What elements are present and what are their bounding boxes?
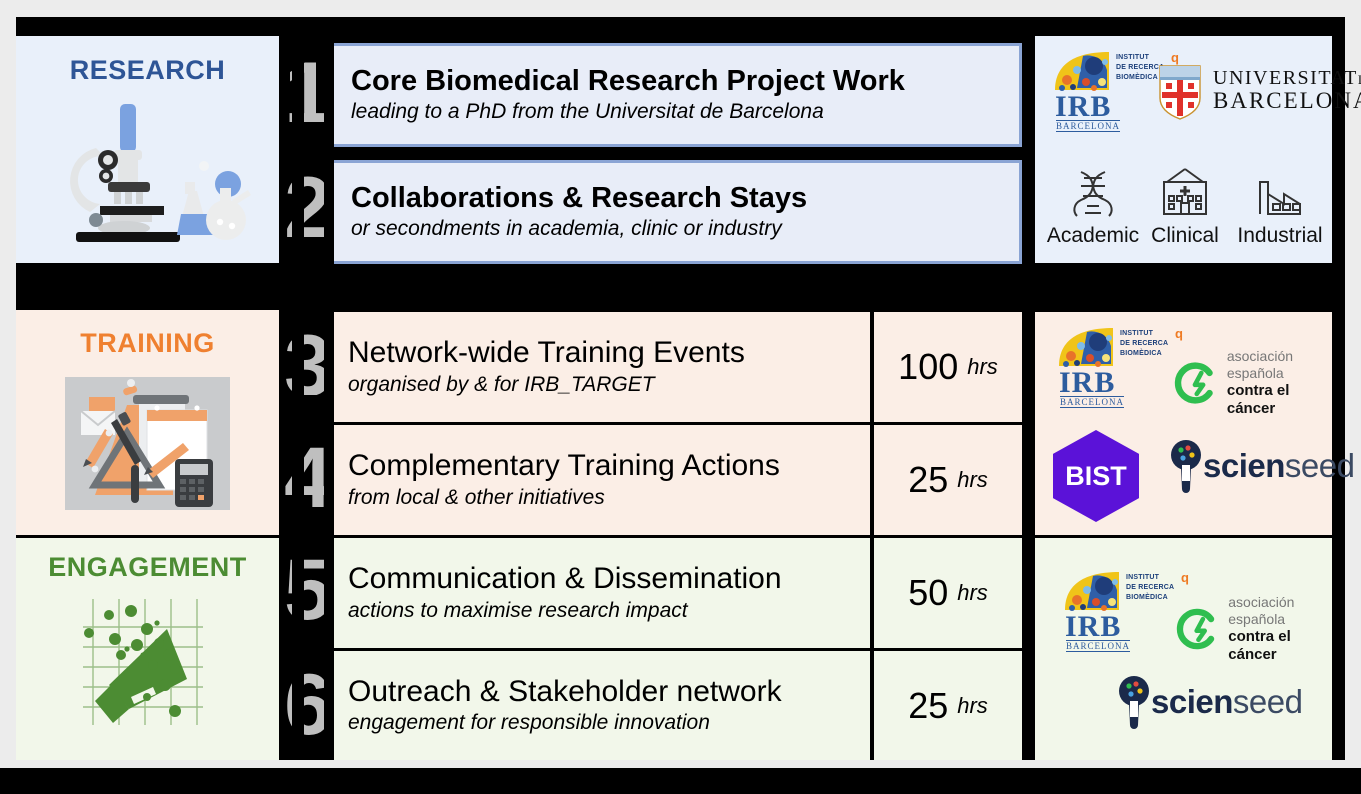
aecc-c-icon — [1173, 359, 1217, 407]
irb-q-mark: q — [1175, 326, 1183, 341]
row-title-1: Core Biomedical Research Project Work — [351, 66, 905, 97]
category-panel-research: RESEARCH — [16, 36, 279, 263]
step-number-column: 1 2 3 4 5 6 — [282, 17, 334, 760]
pictogram-label-industrial: Industrial — [1237, 224, 1322, 248]
row-card-2[interactable]: Collaborations & Research Stays or secon… — [330, 160, 1022, 264]
irb-acronym: IRB — [1065, 610, 1121, 644]
irb-city: BARCELONA — [1066, 640, 1130, 652]
row-card-5[interactable]: Communication & Dissemination actions to… — [330, 538, 870, 648]
irb-acronym: IRB — [1055, 90, 1111, 124]
pictogram-academic: Academic — [1047, 166, 1139, 248]
pictogram-label-academic: Academic — [1047, 224, 1139, 248]
row-card-1[interactable]: Core Biomedical Research Project Work le… — [330, 43, 1022, 147]
row-subtitle-5: actions to maximise research impact — [348, 599, 782, 623]
number-occluder-gap-2 — [282, 239, 334, 325]
row-hours-value-3: 100 — [898, 346, 958, 388]
aecc-line-3: contra el cáncer — [1228, 628, 1332, 664]
irb-institute-line-2: DE RECERCA — [1120, 340, 1168, 349]
number-occluder-gap-1 — [282, 123, 334, 163]
scienseed-light: seed — [1233, 683, 1303, 720]
aecc-line-2: española — [1227, 365, 1332, 382]
logo-panel-research: INSTITUT DE RECERCA BIOMÈDICA q IRB BARC… — [1035, 36, 1332, 263]
irb-institute-line-1: INSTITUT — [1116, 54, 1149, 63]
row-subtitle-1: leading to a PhD from the Universitat de… — [351, 100, 905, 124]
scienseed-logo: scienseed — [1117, 673, 1302, 731]
number-occluder-bottom — [282, 735, 334, 760]
aecc-line-2: española — [1228, 611, 1332, 628]
asociacion-espanola-contra-el-cancer-logo: asociación española contra el cáncer — [1173, 348, 1332, 418]
number-occluder-gap-3 — [282, 395, 334, 437]
row-title-5: Communication & Dissemination — [348, 563, 782, 595]
logo-panel-training: INSTITUT DE RECERCA BIOMÈDICA q IRB BARC… — [1035, 312, 1332, 535]
scienseed-bold: scien — [1151, 683, 1233, 720]
scienseed-light: seed — [1285, 447, 1355, 484]
row-card-6[interactable]: Outreach & Stakeholder network engagemen… — [330, 651, 870, 760]
row-title-2: Collaborations & Research Stays — [351, 183, 807, 214]
pictogram-industrial: Industrial — [1231, 166, 1329, 248]
row-hours-5: 50 hrs — [874, 538, 1022, 648]
aecc-line-1: asociación — [1227, 348, 1332, 365]
row-title-4: Complementary Training Actions — [348, 450, 780, 482]
aecc-line-1: asociación — [1228, 594, 1332, 611]
irb-acronym: IRB — [1059, 366, 1115, 400]
irb-city: BARCELONA — [1056, 120, 1120, 132]
irb-barcelona-logo: INSTITUT DE RECERCA BIOMÈDICA q IRB BARC… — [1063, 570, 1193, 646]
row-hours-value-5: 50 — [908, 572, 948, 614]
logo-panel-engagement: INSTITUT DE RECERCA BIOMÈDICA q IRB BARC… — [1035, 538, 1332, 760]
bist-label: BIST — [1065, 461, 1127, 492]
infographic-root: RESEARCH — [0, 0, 1361, 794]
row-hours-value-6: 25 — [908, 685, 948, 727]
row-subtitle-2: or secondments in academia, clinic or in… — [351, 217, 807, 241]
irb-institute-line-2: DE RECERCA — [1126, 584, 1174, 593]
category-panel-engagement: ENGAGEMENT — [16, 538, 279, 760]
irb-mosaic-icon — [1057, 326, 1115, 368]
hospital-icon — [1155, 166, 1215, 222]
row-title-6: Outreach & Stakeholder network — [348, 676, 782, 708]
pictogram-label-clinical: Clinical — [1151, 224, 1219, 248]
pictogram-clinical: Clinical — [1139, 166, 1231, 248]
irb-mosaic-icon — [1053, 50, 1111, 92]
irb-institute-line-3: BIOMÈDICA — [1126, 594, 1168, 603]
number-occluder-gap-5 — [282, 621, 334, 663]
megaphone-icon — [71, 593, 221, 735]
scienseed-bulb-icon — [1117, 673, 1151, 731]
row-card-3[interactable]: Network-wide Training Events organised b… — [330, 312, 870, 422]
irb-institute-line-1: INSTITUT — [1120, 330, 1153, 339]
irb-institute-line-3: BIOMÈDICA — [1116, 74, 1158, 83]
ub-line-1: UNIVERSITAT — [1213, 67, 1358, 89]
category-title-engagement: ENGAGEMENT — [48, 552, 247, 583]
category-panel-training: TRAINING — [16, 310, 279, 535]
row-hours-6: 25 hrs — [874, 651, 1022, 760]
number-occluder-top-1 — [282, 17, 334, 47]
scienseed-logo: scienseed — [1169, 437, 1354, 495]
ub-crest-icon — [1157, 62, 1203, 120]
category-title-training: TRAINING — [80, 328, 215, 359]
category-title-research: RESEARCH — [70, 55, 226, 86]
number-occluder-gap-4 — [282, 509, 334, 549]
irb-mosaic-icon — [1063, 570, 1121, 612]
row-title-3: Network-wide Training Events — [348, 337, 745, 369]
bottom-black-bar — [0, 768, 1361, 794]
irb-q-mark: q — [1181, 570, 1189, 585]
asociacion-espanola-contra-el-cancer-logo: asociación española contra el cáncer — [1175, 594, 1332, 664]
factory-icon — [1250, 166, 1310, 222]
row-hours-value-4: 25 — [908, 459, 948, 501]
dna-icon — [1065, 166, 1121, 222]
scienseed-bulb-icon — [1169, 437, 1203, 495]
row-hours-unit-5: hrs — [957, 580, 988, 606]
row-subtitle-3: organised by & for IRB_TARGET — [348, 373, 745, 397]
row-card-4[interactable]: Complementary Training Actions from loca… — [330, 425, 870, 535]
desk-supplies-icon — [65, 377, 230, 510]
row-hours-unit-4: hrs — [957, 467, 988, 493]
aecc-c-icon — [1175, 605, 1218, 653]
row-subtitle-4: from local & other initiatives — [348, 486, 780, 510]
microscope-icon — [44, 96, 254, 246]
row-hours-unit-6: hrs — [957, 693, 988, 719]
aecc-line-3: contra el cáncer — [1227, 382, 1332, 418]
irb-city: BARCELONA — [1060, 396, 1124, 408]
irb-institute-line-3: BIOMÈDICA — [1120, 350, 1162, 359]
row-subtitle-6: engagement for responsible innovation — [348, 711, 782, 735]
row-hours-unit-3: hrs — [967, 354, 998, 380]
row-hours-4: 25 hrs — [874, 425, 1022, 535]
irb-barcelona-logo: INSTITUT DE RECERCA BIOMÈDICA q IRB BARC… — [1057, 326, 1187, 402]
bist-logo: BIST — [1053, 430, 1139, 522]
scienseed-bold: scien — [1203, 447, 1285, 484]
universitat-de-barcelona-logo: UNIVERSITATDE BARCELONA — [1157, 62, 1361, 120]
row-hours-3: 100 hrs — [874, 312, 1022, 422]
irb-institute-line-1: INSTITUT — [1126, 574, 1159, 583]
ub-line-2: BARCELONA — [1213, 89, 1361, 113]
